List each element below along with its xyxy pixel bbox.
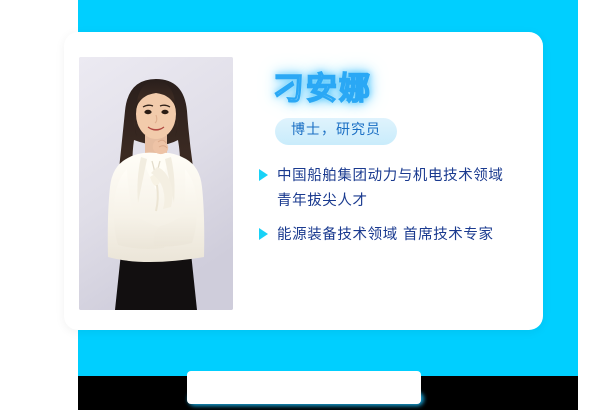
slide-stage: 刁安娜 博士，研究员 中国船舶集团动力与机电技术领域 青年拔尖人才 能源装备技术… <box>0 0 607 410</box>
credential-text: 中国船舶集团动力与机电技术领域 青年拔尖人才 <box>277 164 504 214</box>
credential-line: 中国船舶集团动力与机电技术领域 <box>277 164 504 189</box>
credential-text: 能源装备技术领域 首席技术专家 <box>277 223 494 248</box>
profile-info: 刁安娜 博士，研究员 中国船舶集团动力与机电技术领域 青年拔尖人才 能源装备技术… <box>259 62 529 302</box>
credential-line: 青年拔尖人才 <box>277 189 504 214</box>
profile-card: 刁安娜 博士，研究员 中国船舶集团动力与机电技术领域 青年拔尖人才 能源装备技术… <box>64 32 543 330</box>
credential-item: 中国船舶集团动力与机电技术领域 青年拔尖人才 <box>259 164 529 214</box>
credential-line: 能源装备技术领域 首席技术专家 <box>277 223 494 248</box>
portrait-photo <box>79 57 233 310</box>
credentials-list: 中国船舶集团动力与机电技术领域 青年拔尖人才 能源装备技术领域 首席技术专家 <box>259 164 529 248</box>
title-badge: 博士，研究员 <box>275 118 397 145</box>
triangle-right-icon <box>259 169 268 181</box>
footer-white-box <box>187 371 421 404</box>
triangle-right-icon <box>259 228 268 240</box>
profile-name: 刁安娜 <box>273 74 372 105</box>
credential-item: 能源装备技术领域 首席技术专家 <box>259 223 529 248</box>
